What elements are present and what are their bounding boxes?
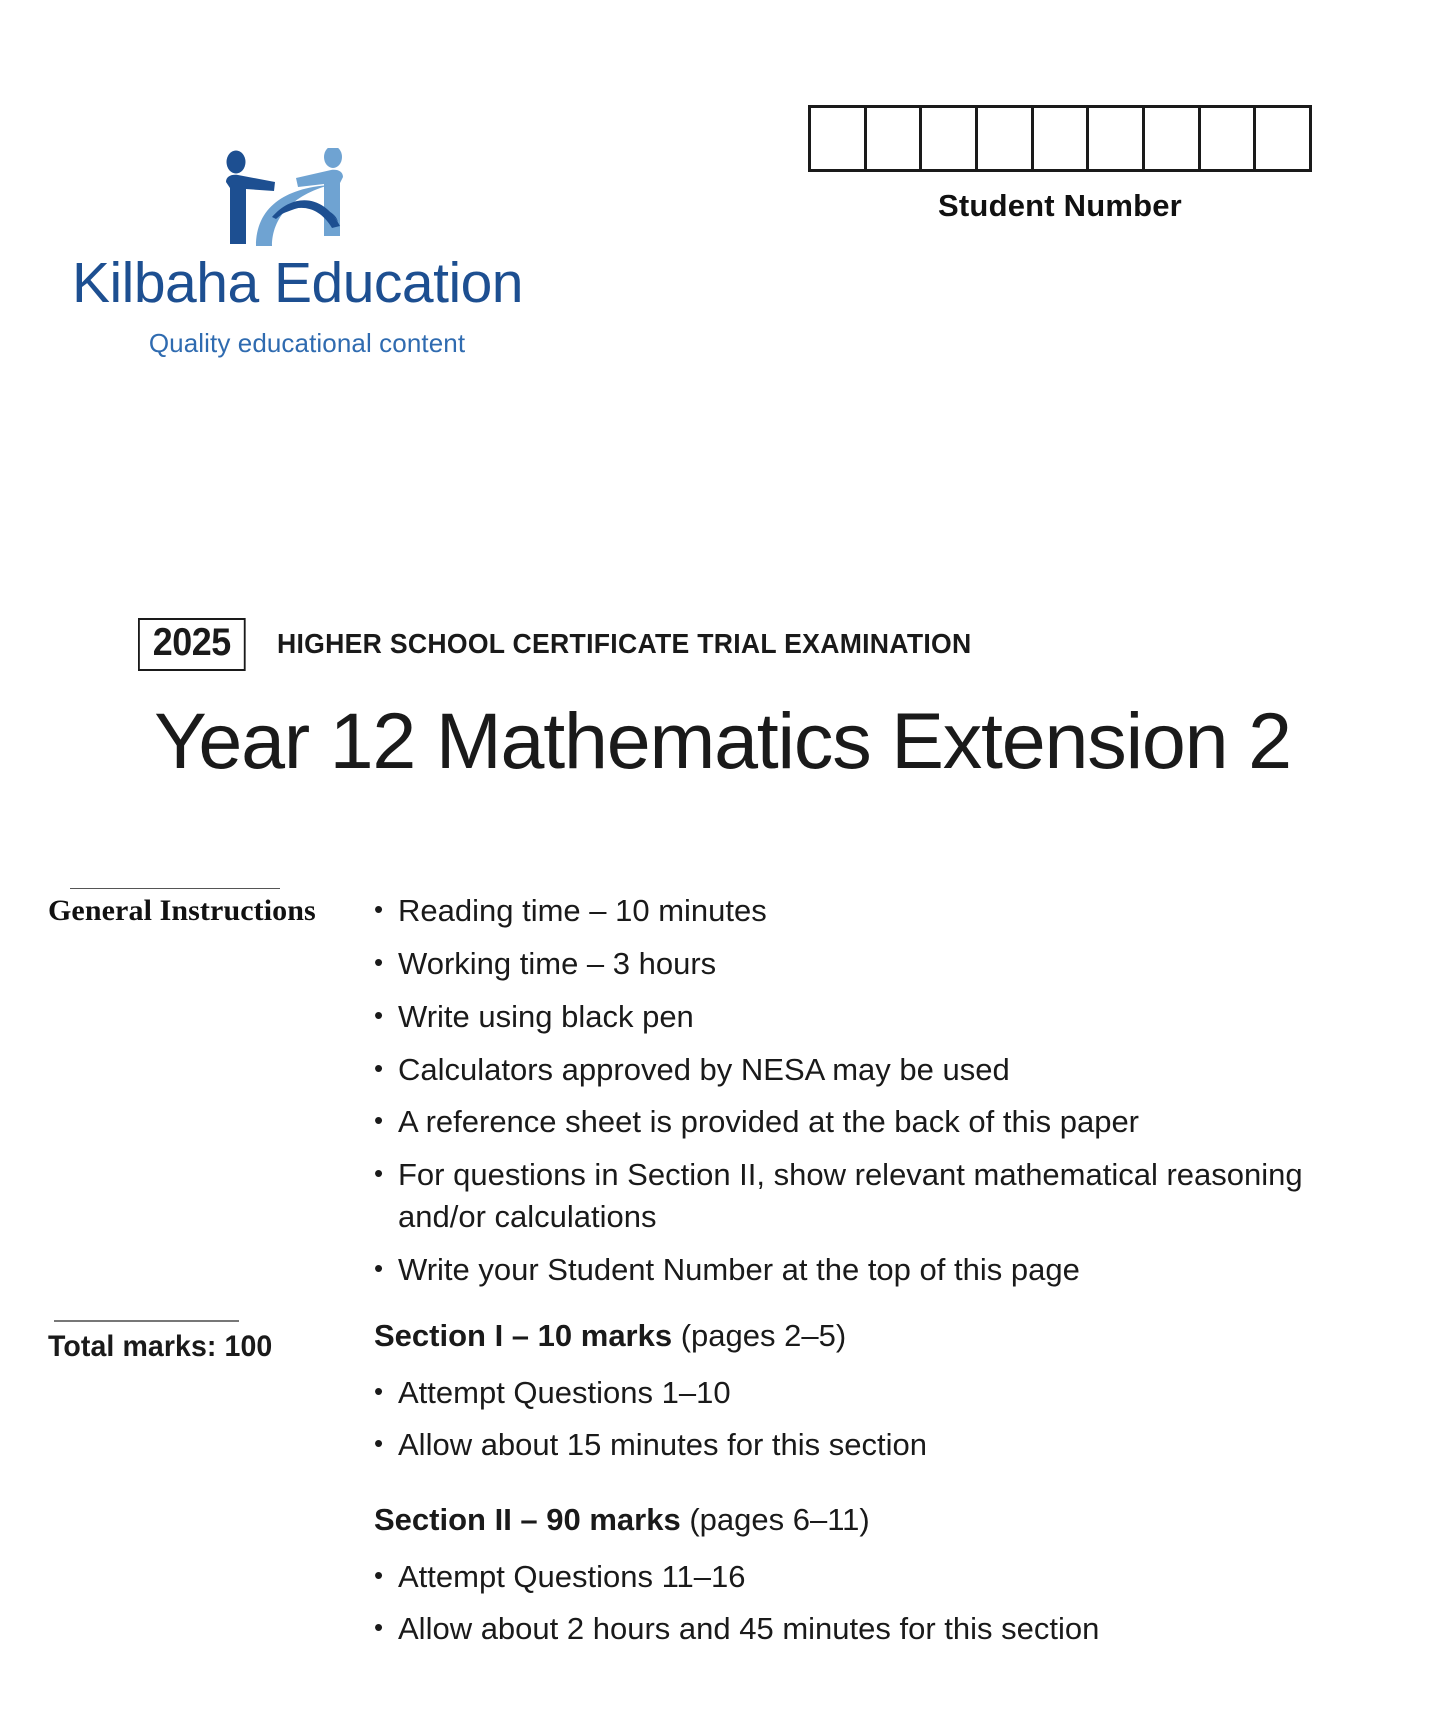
instruction-text: Reading time – 10 minutes xyxy=(398,890,1354,932)
kilbaha-logo-block: Kilbaha Education Quality educational co… xyxy=(72,148,542,359)
exam-header-title: HIGHER SCHOOL CERTIFICATE TRIAL EXAMINAT… xyxy=(277,628,972,660)
exam-year-badge: 2025 xyxy=(138,618,245,671)
bullet-icon: • xyxy=(374,1249,398,1291)
student-number-cell[interactable] xyxy=(1034,108,1090,169)
instruction-item: •Calculators approved by NESA may be use… xyxy=(374,1049,1354,1091)
instruction-item: •For questions in Section II, show relev… xyxy=(374,1154,1354,1238)
student-number-cell[interactable] xyxy=(1201,108,1257,169)
exam-header: 2025 HIGHER SCHOOL CERTIFICATE TRIAL EXA… xyxy=(138,618,1008,671)
student-number-label: Student Number xyxy=(808,188,1312,224)
total-marks-heading: Total marks: 100 xyxy=(48,1320,348,1364)
sections-block: Section I – 10 marks (pages 2–5)•Attempt… xyxy=(374,1318,1374,1659)
instruction-item: •A reference sheet is provided at the ba… xyxy=(374,1101,1354,1143)
section-item: •Attempt Questions 1–10 xyxy=(374,1372,1374,1414)
page-title: Year 12 Mathematics Extension 2 xyxy=(0,695,1445,787)
instruction-text: For questions in Section II, show releva… xyxy=(398,1154,1354,1238)
instruction-item: •Working time – 3 hours xyxy=(374,943,1354,985)
instruction-text: Working time – 3 hours xyxy=(398,943,1354,985)
section-item: •Allow about 15 minutes for this section xyxy=(374,1424,1374,1466)
heading-rule xyxy=(54,1320,239,1322)
section-item: •Attempt Questions 11–16 xyxy=(374,1556,1374,1598)
bullet-icon: • xyxy=(374,943,398,985)
bullet-icon: • xyxy=(374,1154,398,1238)
general-instructions-heading: General Instructions xyxy=(48,888,338,928)
section-item-text: Allow about 15 minutes for this section xyxy=(398,1424,1374,1466)
kilbaha-people-bridge-logo-icon xyxy=(212,148,362,248)
section-item: •Allow about 2 hours and 45 minutes for … xyxy=(374,1608,1374,1650)
bullet-icon: • xyxy=(374,890,398,932)
bullet-icon: • xyxy=(374,1049,398,1091)
student-number-cell[interactable] xyxy=(978,108,1034,169)
section-heading-pages: (pages 6–11) xyxy=(681,1502,870,1537)
instruction-item: •Write using black pen xyxy=(374,996,1354,1038)
bullet-icon: • xyxy=(374,1556,398,1598)
student-number-cell[interactable] xyxy=(867,108,923,169)
bullet-icon: • xyxy=(374,1424,398,1466)
instruction-text: Write your Student Number at the top of … xyxy=(398,1249,1354,1291)
total-marks-label: Total marks: 100 xyxy=(48,1330,333,1364)
section-heading-pages: (pages 2–5) xyxy=(672,1318,846,1353)
bullet-icon: • xyxy=(374,1608,398,1650)
logo-tagline: Quality educational content xyxy=(72,328,542,359)
student-number-boxes[interactable] xyxy=(808,105,1312,172)
bullet-icon: • xyxy=(374,996,398,1038)
student-number-block: Student Number xyxy=(808,105,1312,224)
bullet-icon: • xyxy=(374,1101,398,1143)
section-heading-marks: Section I – 10 marks xyxy=(374,1318,672,1353)
heading-rule xyxy=(70,888,280,889)
student-number-cell[interactable] xyxy=(1089,108,1145,169)
instruction-text: Write using black pen xyxy=(398,996,1354,1038)
student-number-cell[interactable] xyxy=(1256,108,1309,169)
section-heading: Section I – 10 marks (pages 2–5) xyxy=(374,1318,1374,1354)
bullet-icon: • xyxy=(374,1372,398,1414)
section-group: Section II – 90 marks (pages 6–11)•Attem… xyxy=(374,1502,1374,1650)
instruction-item: •Write your Student Number at the top of… xyxy=(374,1249,1354,1291)
section-item-text: Allow about 2 hours and 45 minutes for t… xyxy=(398,1608,1374,1650)
student-number-cell[interactable] xyxy=(811,108,867,169)
general-instructions-list: •Reading time – 10 minutes•Working time … xyxy=(374,890,1354,1302)
student-number-cell[interactable] xyxy=(1145,108,1201,169)
section-heading-marks: Section II – 90 marks xyxy=(374,1502,681,1537)
instruction-text: A reference sheet is provided at the bac… xyxy=(398,1101,1354,1143)
section-heading: Section II – 90 marks (pages 6–11) xyxy=(374,1502,1374,1538)
section-group: Section I – 10 marks (pages 2–5)•Attempt… xyxy=(374,1318,1374,1466)
logo-wordmark: Kilbaha Education xyxy=(72,254,542,314)
section-item-text: Attempt Questions 1–10 xyxy=(398,1372,1374,1414)
instruction-item: •Reading time – 10 minutes xyxy=(374,890,1354,932)
general-instructions-label: General Instructions xyxy=(48,894,338,928)
section-item-text: Attempt Questions 11–16 xyxy=(398,1556,1374,1598)
student-number-cell[interactable] xyxy=(922,108,978,169)
instruction-text: Calculators approved by NESA may be used xyxy=(398,1049,1354,1091)
